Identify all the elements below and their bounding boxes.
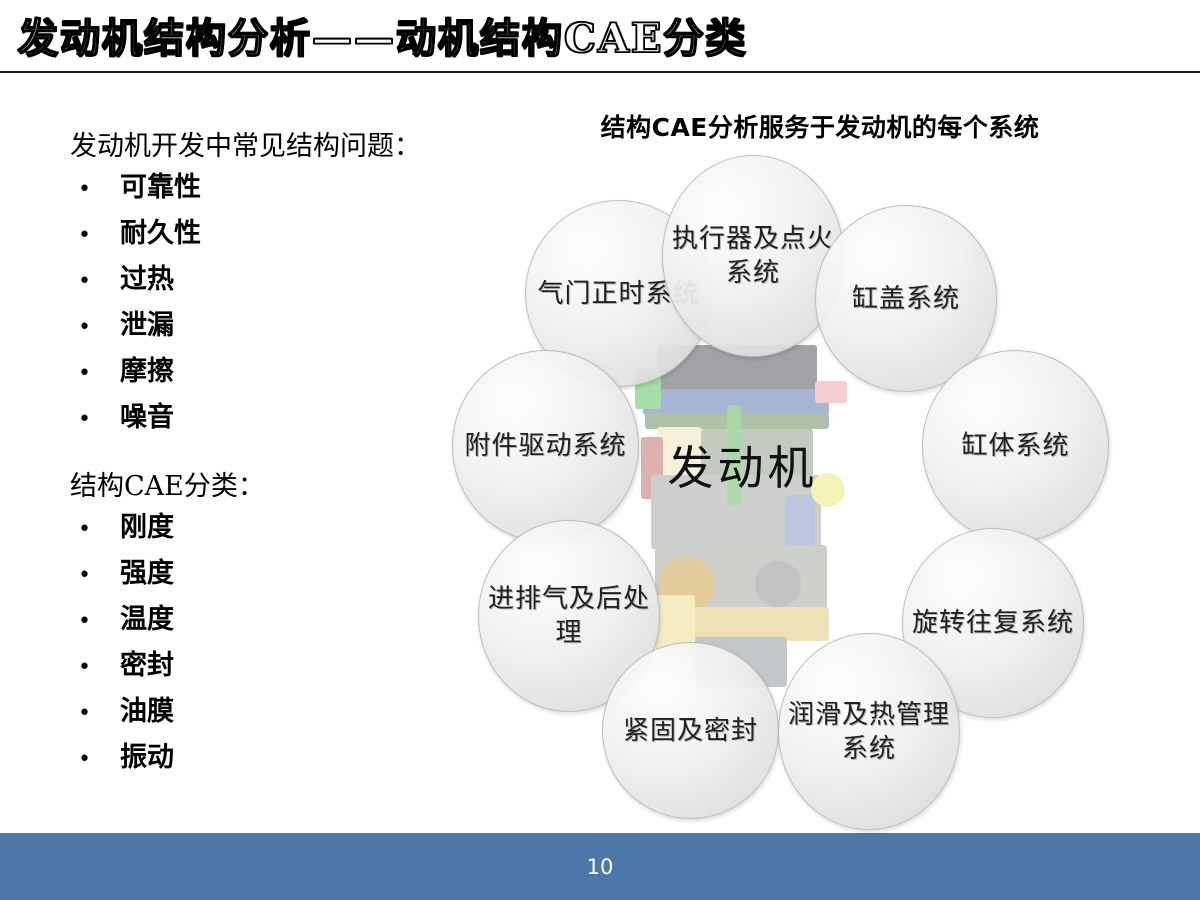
list-item: • 振动 [70,736,460,782]
engine-photo [635,345,845,690]
list-item: • 噪音 [70,396,460,442]
list-item: • 摩擦 [70,350,460,396]
list-item: • 泄漏 [70,304,460,350]
list-item: • 强度 [70,552,460,598]
list-item: • 耐久性 [70,212,460,258]
list-item-label: 强度 [120,552,174,596]
bubble-cylinder-block[interactable]: 缸体系统 [922,350,1109,542]
left-text-column: 发动机开发中常见结构问题： • 可靠性 • 耐久性 • 过热 • 泄漏 • 摩擦… [70,128,460,782]
problems-list: • 可靠性 • 耐久性 • 过热 • 泄漏 • 摩擦 • 噪音 [70,166,460,442]
list-item-label: 密封 [120,644,174,688]
list-item: • 温度 [70,598,460,644]
bullet-icon: • [70,600,120,644]
list-item-label: 可靠性 [120,166,201,210]
bullet-icon: • [70,398,120,442]
bullet-icon: • [70,214,120,258]
bubble-label: 附件驱动系统 [458,429,632,463]
engine-systems-diagram: 发动机 气门正时系统 执行器及点火系统 缸盖系统 附件驱动系统 缸体系统 进排气… [430,150,1130,820]
bubble-label: 进排气及后处理 [479,582,659,650]
page-number: 10 [0,855,1200,879]
list-item: • 可靠性 [70,166,460,212]
bubble-label: 缸盖系统 [846,282,966,316]
bubble-lubrication-thermal[interactable]: 润滑及热管理系统 [778,633,960,830]
list-item-label: 耐久性 [120,212,201,256]
list-spacer [70,442,460,468]
list-item: • 过热 [70,258,460,304]
bubble-label: 旋转往复系统 [906,606,1080,640]
list-item-label: 噪音 [120,396,174,440]
classification-heading: 结构CAE分类： [70,468,460,506]
bullet-icon: • [70,352,120,396]
list-item-label: 油膜 [120,690,174,734]
bullet-icon: • [70,168,120,212]
list-item: • 油膜 [70,690,460,736]
page-title: 发动机结构分析——动机结构CAE分类 [18,10,1178,68]
list-item-label: 刚度 [120,506,174,550]
bullet-icon: • [70,306,120,350]
title-divider [0,71,1200,73]
diagram-heading: 结构CAE分析服务于发动机的每个系统 [500,108,1140,144]
bullet-icon: • [70,554,120,598]
list-item-label: 过热 [120,258,174,302]
list-item-label: 泄漏 [120,304,174,348]
list-item: • 密封 [70,644,460,690]
bullet-icon: • [70,508,120,552]
bullet-icon: • [70,692,120,736]
bubble-label: 润滑及热管理系统 [779,698,959,766]
list-item-label: 振动 [120,736,174,780]
problems-heading: 发动机开发中常见结构问题： [70,128,460,166]
bullet-icon: • [70,738,120,782]
bubble-actuator-ignition[interactable]: 执行器及点火系统 [662,155,844,357]
bubble-fastening-sealing[interactable]: 紧固及密封 [602,642,779,819]
list-item: • 刚度 [70,506,460,552]
bubble-label: 紧固及密封 [617,714,764,748]
bullet-icon: • [70,646,120,690]
bubble-label: 缸体系统 [955,429,1075,463]
engine-center-label: 发动机 [610,440,875,496]
list-item-label: 摩擦 [120,350,174,394]
list-item-label: 温度 [120,598,174,642]
classification-list: • 刚度 • 强度 • 温度 • 密封 • 油膜 • 振动 [70,506,460,782]
bullet-icon: • [70,260,120,304]
